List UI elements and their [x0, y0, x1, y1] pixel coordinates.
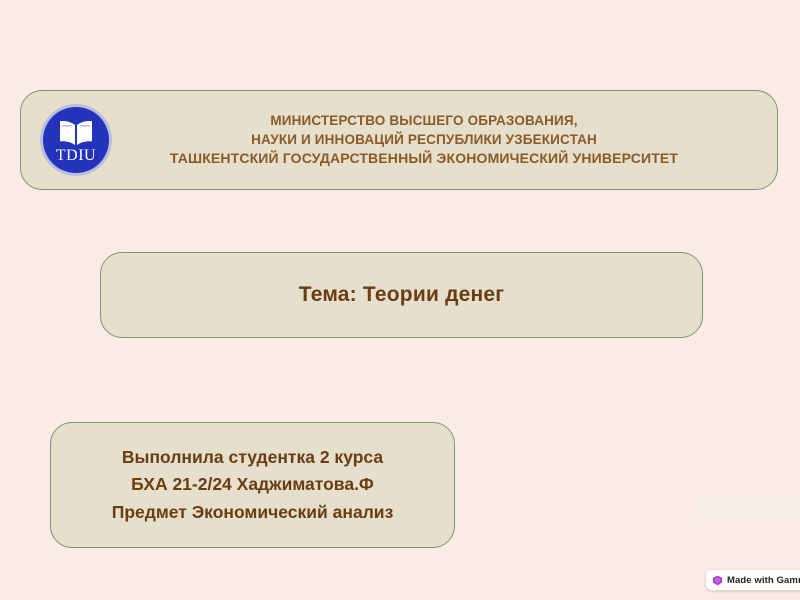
slide-title: Тема: Теории денег	[299, 283, 504, 307]
presentation-slide: TDIU МИНИСТЕРСТВО ВЫСШЕГО ОБРАЗОВАНИЯ, Н…	[0, 0, 800, 600]
header-line-1: МИНИСТЕРСТВО ВЫСШЕГО ОБРАЗОВАНИЯ,	[81, 111, 767, 130]
author-line-1: Выполнила студентка 2 курса	[112, 444, 394, 471]
title-panel: Тема: Теории денег	[100, 252, 703, 338]
author-details: Выполнила студентка 2 курса БХА 21-2/24 …	[112, 444, 394, 525]
author-line-2: БХА 21-2/24 Хаджиматова.Ф	[112, 471, 394, 498]
author-line-3: Предмет Экономический анализ	[112, 499, 394, 526]
gamma-gem-icon	[712, 575, 723, 586]
background-artifact	[690, 490, 800, 520]
header-panel: TDIU МИНИСТЕРСТВО ВЫСШЕГО ОБРАЗОВАНИЯ, Н…	[20, 90, 778, 190]
svg-text:TDIU: TDIU	[56, 147, 96, 164]
author-panel: Выполнила студентка 2 курса БХА 21-2/24 …	[50, 422, 455, 548]
header-line-2: НАУКИ И ИННОВАЦИЙ РЕСПУБЛИКИ УЗБЕКИСТАН	[81, 130, 767, 149]
ministry-header-text: МИНИСТЕРСТВО ВЫСШЕГО ОБРАЗОВАНИЯ, НАУКИ …	[21, 111, 777, 169]
made-with-gamma-badge[interactable]: Made with Gamma	[706, 570, 800, 590]
made-with-gamma-label: Made with Gamma	[727, 575, 800, 586]
university-logo: TDIU	[39, 103, 113, 177]
header-line-3: ТАШКЕНТСКИЙ ГОСУДАРСТВЕННЫЙ ЭКОНОМИЧЕСКИ…	[81, 149, 767, 169]
tdiu-logo-icon: TDIU	[39, 103, 113, 177]
